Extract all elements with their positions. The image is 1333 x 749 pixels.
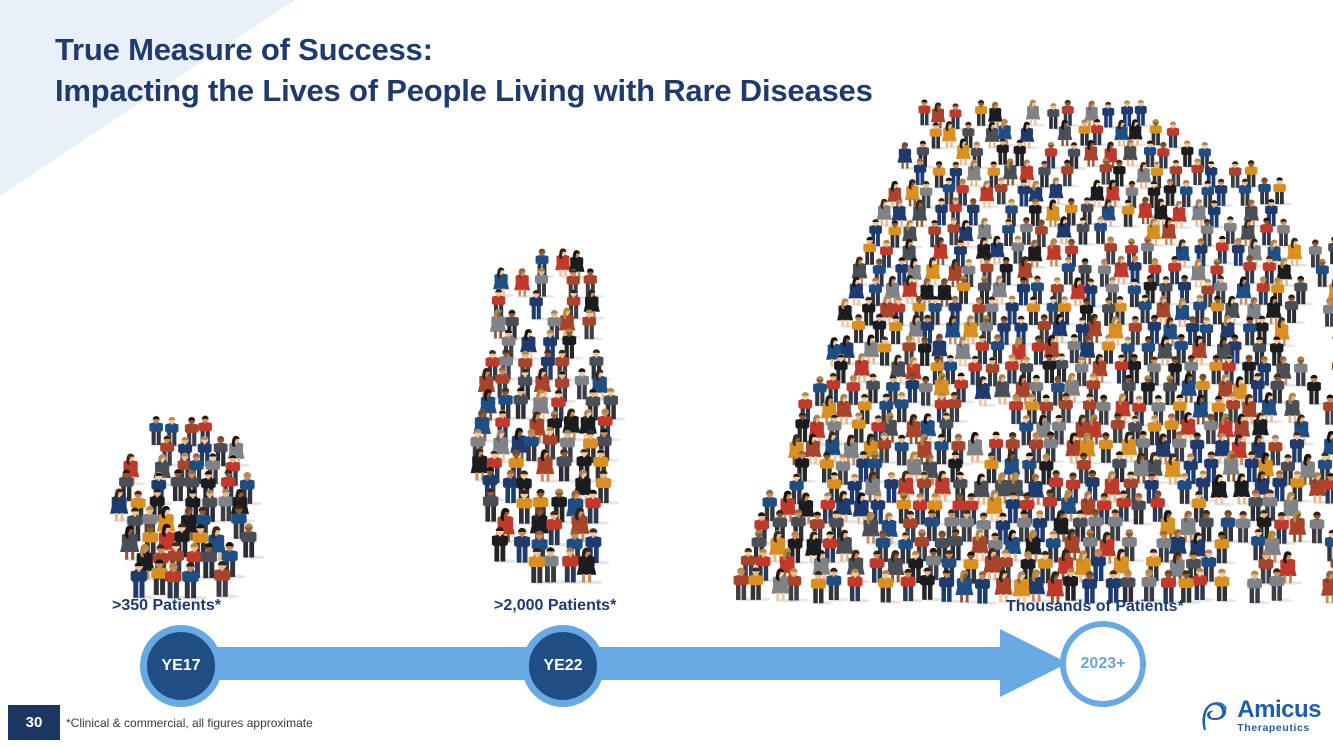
logo-text: Amicus Therapeutics [1237, 698, 1321, 734]
count-label-2023: Thousands of Patients* [1006, 598, 1184, 616]
crowd-cluster-2023 [735, 42, 1333, 597]
logo-tagline: Therapeutics [1237, 723, 1321, 734]
slide-canvas: True Measure of Success: Impacting the L… [0, 0, 1333, 749]
crowd-small-svg [100, 398, 260, 588]
timeline-node-ye22[interactable]: YE22 [522, 625, 604, 707]
amicus-swoosh-icon [1198, 700, 1232, 732]
timeline-node-2023[interactable]: 2023+ [1060, 621, 1146, 707]
crowd-large-svg [735, 42, 1333, 597]
timeline-arrow-head [1000, 629, 1068, 697]
crowd-cluster-ye22 [438, 228, 648, 588]
page-number: 30 [8, 705, 60, 740]
count-label-ye17: >350 Patients* [112, 597, 221, 615]
logo-wordmark: Amicus [1237, 698, 1321, 722]
timeline-node-2023-label: 2023+ [1081, 655, 1126, 673]
count-label-ye22: >2,000 Patients* [494, 597, 616, 615]
crowd-medium-svg [438, 228, 648, 588]
crowd-cluster-ye17 [100, 398, 260, 588]
amicus-logo: Amicus Therapeutics [1198, 698, 1321, 734]
footnote-text: *Clinical & commercial, all figures appr… [66, 716, 313, 730]
page-title: True Measure of Success: Impacting the L… [55, 30, 873, 112]
timeline-node-ye22-label: YE22 [543, 657, 582, 675]
timeline-node-ye17-label: YE17 [161, 657, 200, 675]
timeline-node-ye17[interactable]: YE17 [140, 625, 222, 707]
